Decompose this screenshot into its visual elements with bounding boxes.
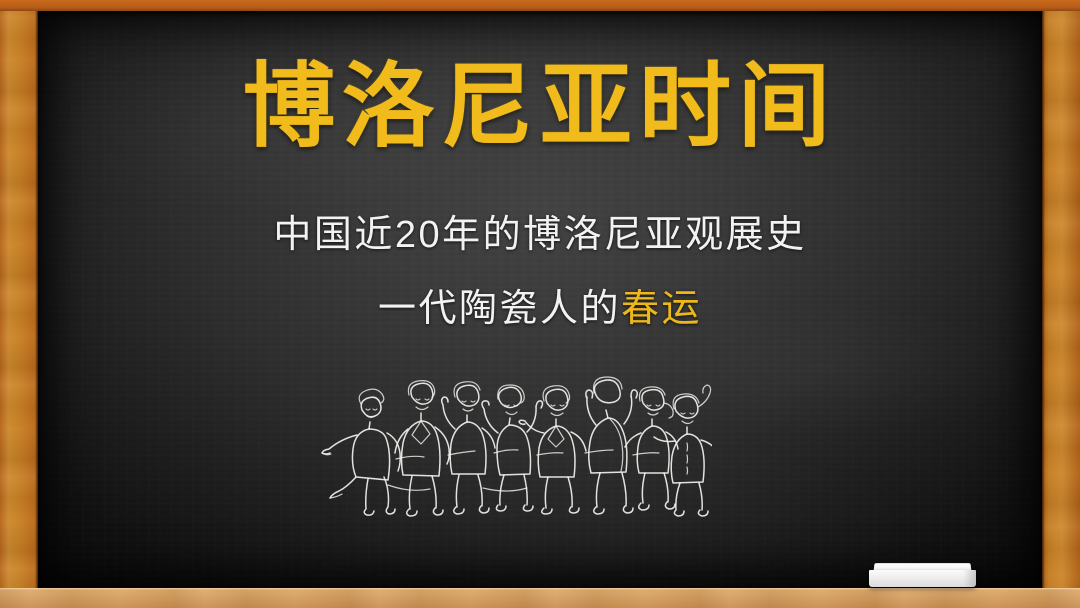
slide-subtitle-line-2-plain: 一代陶瓷人的 [378, 288, 621, 330]
chalkboard-slide: 博洛尼亚时间 中国近20年的博洛尼亚观展史 一代陶瓷人的春运 [0, 0, 1080, 608]
chalk-figure-1 [322, 389, 400, 515]
chalk-figure-7 [625, 387, 678, 510]
chalk-drawing-dancing-crowd [308, 363, 712, 523]
slide-title: 博洛尼亚时间 [0, 59, 1080, 157]
chalk-figure-4 [482, 385, 543, 511]
eraser-body [869, 570, 976, 587]
slide-subtitle-line-1: 中国近20年的博洛尼亚观展史 [0, 203, 1080, 258]
slide-content: 博洛尼亚时间 中国近20年的博洛尼亚观展史 一代陶瓷人的春运 [0, 0, 1080, 608]
chalk-connecting-strokes [388, 450, 659, 491]
chalk-figure-6 [586, 377, 637, 514]
chalkboard-eraser[interactable] [869, 563, 976, 589]
chalk-drawing-svg [308, 363, 712, 523]
slide-subtitle-line-2-accent: 春运 [621, 288, 702, 330]
slide-subtitle-line-2: 一代陶瓷人的春运 [0, 277, 1080, 332]
